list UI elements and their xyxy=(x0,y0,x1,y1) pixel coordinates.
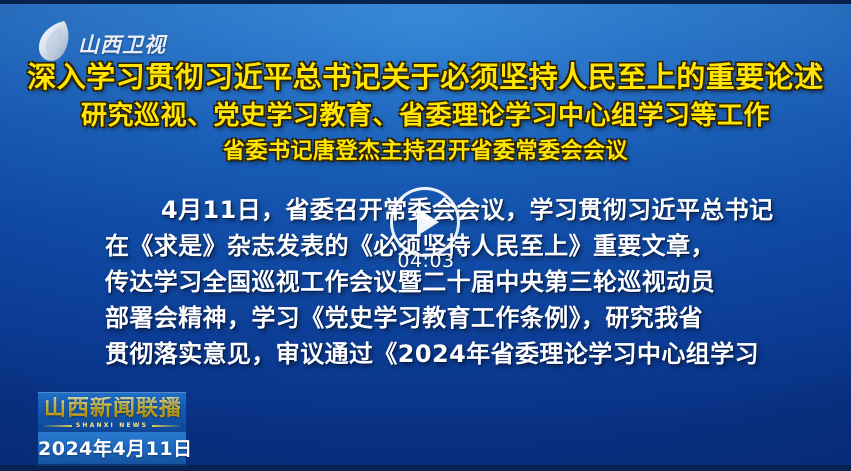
headline-line-2: 研究巡视、党史学习教育、省委理论学习中心组学习等工作 xyxy=(0,101,851,132)
video-timestamp: 04:03 xyxy=(396,250,456,272)
program-banner: 山西新闻联播 SHANXI NEWS 2024年4月11日 xyxy=(38,392,186,466)
video-frame: 山西卫视 深入学习贯彻习近平总书记关于必须坚持人民至上的重要论述 研究巡视、党史… xyxy=(0,0,851,471)
channel-logo: 山西卫视 xyxy=(34,16,166,64)
subtitle-rule-left xyxy=(44,425,72,427)
program-title: 山西新闻联播 xyxy=(44,397,180,420)
program-subtitle: SHANXI NEWS xyxy=(76,422,148,429)
letterbox-top xyxy=(0,0,851,4)
headline-block: 深入学习贯彻习近平总书记关于必须坚持人民至上的重要论述 研究巡视、党史学习教育、… xyxy=(0,60,851,165)
body-line: 部署会精神，学习《党史学习教育工作条例》，研究我省 xyxy=(105,300,791,336)
program-banner-top: 山西新闻联播 SHANXI NEWS xyxy=(38,392,186,432)
headline-line-1: 深入学习贯彻习近平总书记关于必须坚持人民至上的重要论述 xyxy=(0,60,851,94)
headline-line-3: 省委书记唐登杰主持召开省委常委会会议 xyxy=(0,139,851,165)
program-subtitle-row: SHANXI NEWS xyxy=(44,422,180,429)
play-button[interactable] xyxy=(390,187,460,257)
body-line: 贯彻落实意见，审议通过《2024年省委理论学习中心组学习 xyxy=(105,336,791,372)
play-icon xyxy=(417,208,439,236)
broadcast-date: 2024年4月11日 xyxy=(38,432,186,466)
subtitle-rule-right xyxy=(152,425,180,427)
shanxi-tv-flame-logo-icon xyxy=(34,18,76,64)
